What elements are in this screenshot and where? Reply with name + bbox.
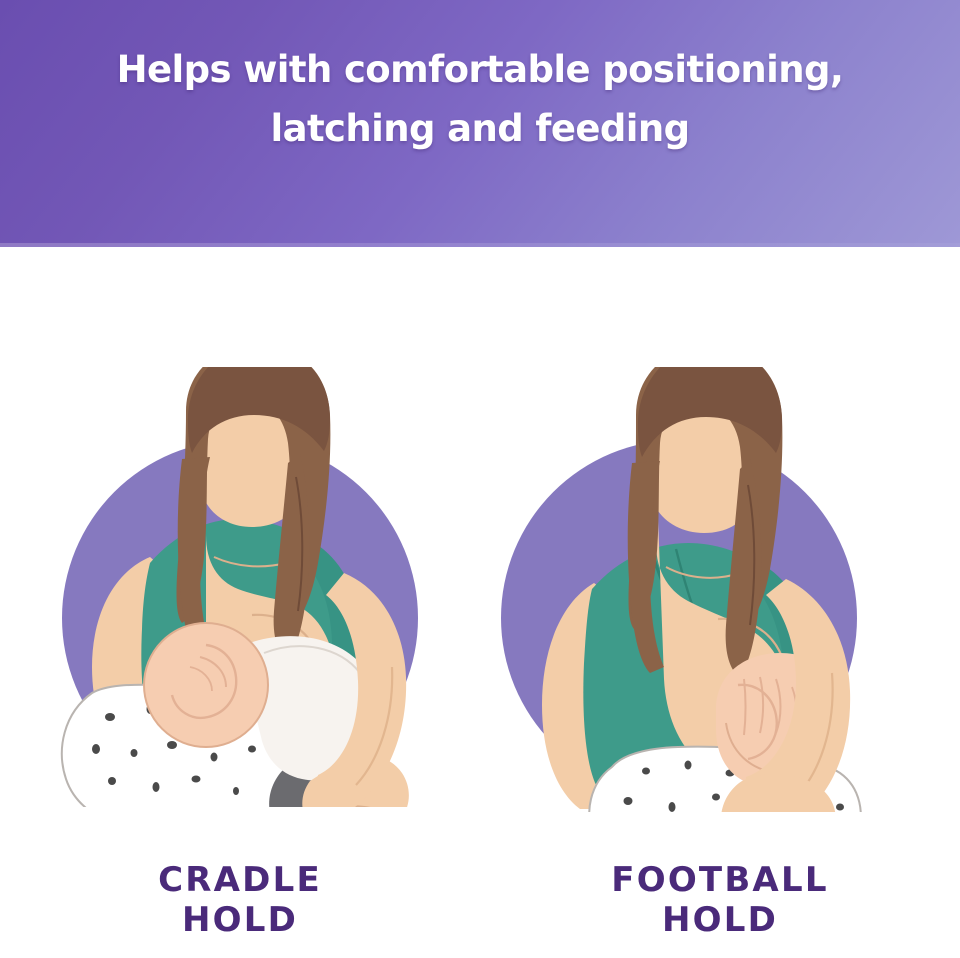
caption-football-line1: FOOTBALL [611,860,828,900]
illustration-cradle-hold [0,367,480,887]
panel-cradle-hold: CRADLE HOLD [0,247,480,958]
caption-football-hold: FOOTBALL HOLD [480,860,960,940]
panel-football-hold: FOOTBALL HOLD [480,247,960,958]
illustration-row: CRADLE HOLD [0,247,960,958]
caption-cradle-line1: CRADLE [158,860,322,900]
banner-headline-line2: latching and feeding [60,99,900,158]
caption-football-line2: HOLD [480,900,960,940]
illustration-football-hold [480,367,960,887]
caption-cradle-line2: HOLD [0,900,480,940]
banner-headline: Helps with comfortable positioning, latc… [0,40,960,158]
banner-headline-line1: Helps with comfortable positioning, [117,48,844,91]
header-banner: Helps with comfortable positioning, latc… [0,0,960,247]
infographic-page: Helps with comfortable positioning, latc… [0,0,960,958]
caption-cradle-hold: CRADLE HOLD [0,860,480,940]
